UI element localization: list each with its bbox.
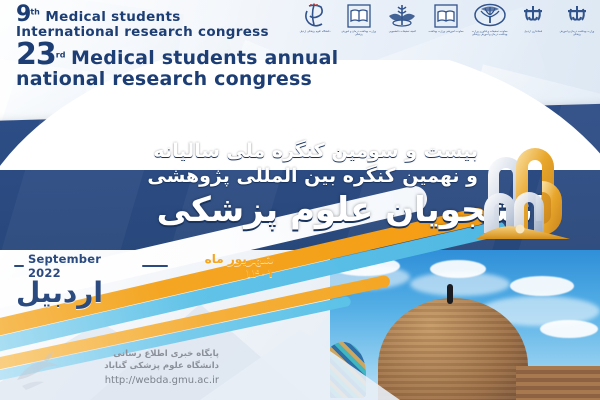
- english-title-block-9th: 9th Medical students International resea…: [16, 4, 269, 40]
- date-persian: شهریور ماه ۱۴۰۱: [172, 252, 274, 280]
- logo-caption: وزارت بهداشت درمان و آموزش پزشکی: [340, 30, 378, 36]
- congress-poster: 9th Medical students International resea…: [0, 0, 600, 400]
- logo-caption: دانشگاه علوم پزشکی اردبیل: [296, 30, 334, 33]
- footer-text: پایگاه خبری اطلاع رسانی دانشگاه علوم پزش…: [54, 348, 219, 388]
- cloud: [510, 276, 574, 296]
- logo-caption: معاونت تحقیقات و فناوری وزارت بهداشت درم…: [471, 30, 509, 36]
- ordinal-number: 23: [16, 37, 56, 72]
- open-book-emblem-logo: [433, 3, 459, 29]
- ordinal-suffix: th: [30, 8, 40, 17]
- date-rule-left: [14, 265, 24, 267]
- logo-caption: کمیته تحقیقات دانشجویی: [383, 30, 421, 33]
- footer-line-1: پایگاه خبری اطلاع رسانی: [54, 348, 219, 360]
- title-line-1: Medical students: [45, 9, 180, 25]
- congress-arches-logo: [470, 133, 578, 245]
- title-line-2: national research congress: [16, 70, 338, 89]
- logo-iran-emblem-ministry: وزارت بهداشت درمان و آموزش پزشکی: [558, 3, 596, 36]
- ordinal-line-9th: 9th Medical students: [16, 4, 269, 26]
- persian-title-line-1: بیست و سومین کنگره ملی سالیانه: [153, 140, 478, 162]
- logo-iran-emblem-governorate: استانداری اردبیل: [514, 3, 552, 33]
- date-rule-right: [142, 265, 168, 267]
- tree-oval-logo: [473, 3, 507, 29]
- logo-caption: معاونت آموزشی وزارت بهداشت: [427, 30, 465, 33]
- cloud: [540, 320, 598, 338]
- logo-tree-oval: معاونت تحقیقات و فناوری وزارت بهداشت درم…: [471, 3, 509, 36]
- logo-open-book-emblem: معاونت آموزشی وزارت بهداشت: [427, 3, 465, 33]
- brick-wall: [516, 366, 600, 400]
- logo-caduceus-wings: کمیته تحقیقات دانشجویی: [383, 3, 421, 33]
- sponsor-logo-strip: دانشگاه علوم پزشکی اردبیل وزارت بهداشت د…: [296, 3, 596, 45]
- cloud: [410, 272, 510, 296]
- ardabil-university-medical-sciences-logo: [301, 3, 329, 29]
- logo-caption: استانداری اردبیل: [514, 30, 552, 33]
- date-row: September 2022 شهریور ماه ۱۴۰۱: [14, 258, 274, 274]
- footer-line-2: دانشگاه علوم پزشکی گناباد: [54, 360, 219, 372]
- ordinal-line-23rd: 23rd Medical students annual: [16, 40, 338, 70]
- persian-title-line-2: و نهمین کنگره بین المللی پژوهشی: [147, 165, 478, 187]
- logo-book-emblem: وزارت بهداشت درمان و آموزش پزشکی: [340, 3, 378, 36]
- dome-finial-icon: [447, 284, 453, 304]
- iran-emblem-governorate-logo: [521, 3, 545, 29]
- ordinal-suffix: rd: [56, 51, 66, 60]
- mountain-silhouette: [200, 330, 400, 400]
- book-emblem-logo: [346, 3, 372, 29]
- caduceus-wings-logo: [387, 3, 417, 29]
- title-line-1: Medical students annual: [71, 47, 338, 69]
- english-title-block-23rd: 23rd Medical students annual national re…: [16, 40, 338, 89]
- logo-ardabil-university-medical-sciences: دانشگاه علوم پزشکی اردبیل: [296, 3, 334, 33]
- city-name: اردبیل: [16, 276, 103, 309]
- iran-emblem-ministry-logo: [565, 3, 589, 29]
- footer-url[interactable]: http://webda.gmu.ac.ir: [54, 373, 219, 388]
- footer-watermark: پایگاه خبری اطلاع رسانی دانشگاه علوم پزش…: [14, 348, 214, 396]
- logo-caption: وزارت بهداشت درمان و آموزش پزشکی: [558, 30, 596, 36]
